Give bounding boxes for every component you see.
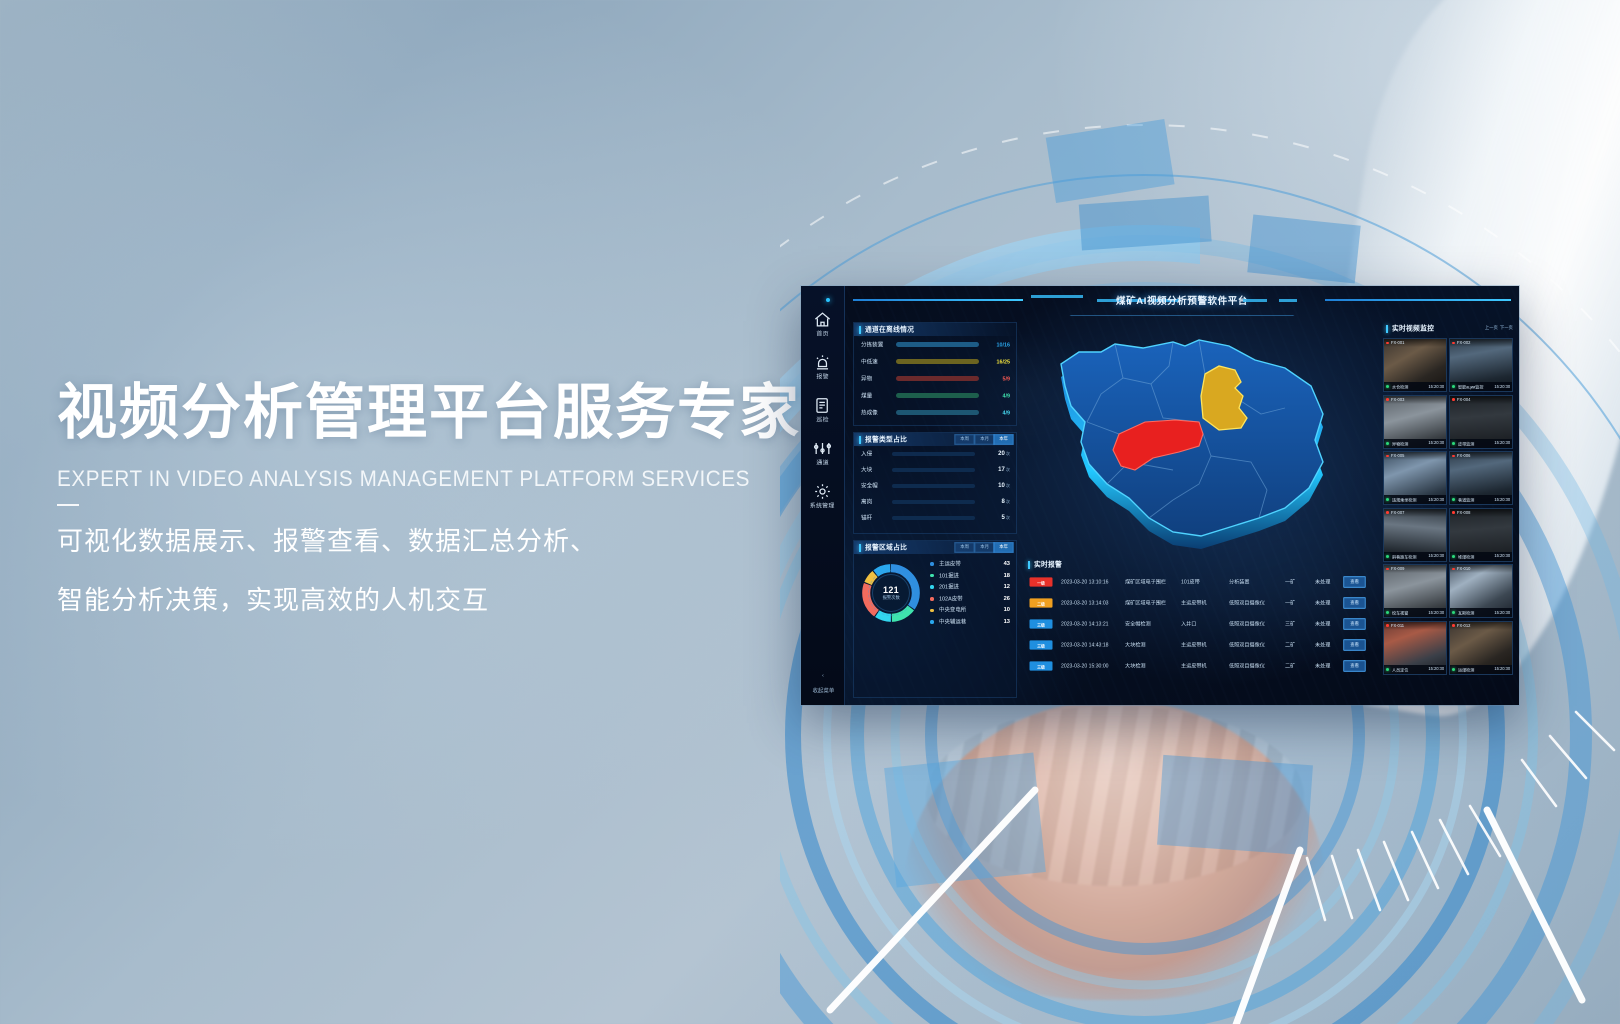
alarm-type-rows: 入侵 20 次 大块 17 次 安全帽 10 次 离岗 8 次 锚杆 5 次 [854, 446, 1016, 526]
video-channel-id: FX-009 [1391, 567, 1404, 572]
video-tile-footer: 皮带监测 15:20:30 [1450, 439, 1512, 448]
video-tile-footer: 人员定位 15:20:30 [1384, 665, 1446, 674]
view-button[interactable]: 查看 [1343, 576, 1366, 588]
alarm-type-unit: 次 [1005, 452, 1010, 457]
online-status-icon [1386, 442, 1389, 445]
channel-row: 异物 5/9 [854, 370, 1016, 387]
channel-progress-track [896, 359, 979, 364]
tab-本月[interactable]: 本月 [974, 434, 995, 445]
online-status-icon [1452, 442, 1455, 445]
channel-progress-track [896, 376, 979, 381]
panel-title-bar: 实时视频监控 上一页 下一页 [1381, 322, 1515, 335]
legend-row: 中央辅运巷 13 [930, 616, 1010, 628]
video-tile-header: FX-008 [1450, 509, 1512, 517]
sidebar-label: 报警 [816, 373, 828, 381]
video-tile[interactable]: FX-006 巷道监测 15:20:30 [1449, 451, 1513, 505]
view-button[interactable]: 查看 [1343, 639, 1366, 651]
alarm-type-unit: 次 [1005, 468, 1010, 473]
video-timestamp: 15:20:30 [1428, 667, 1444, 672]
title-accent [1386, 325, 1388, 333]
page-title: 视频分析管理平台服务专家 [57, 379, 837, 446]
video-channel-name: 堆煤检测 [1458, 553, 1474, 559]
status-badge: 三级 [1030, 640, 1053, 649]
time-range-tabs[interactable]: 本周本月本年 [956, 435, 1016, 444]
video-channel-id: FX-011 [1391, 623, 1404, 628]
tab-本年[interactable]: 本年 [993, 542, 1014, 553]
video-tile[interactable]: FX-007 斜巷跑车检测 15:20:30 [1383, 508, 1447, 562]
legend-row: 101掘进 18 [930, 570, 1010, 582]
video-tile-header: FX-005 [1384, 452, 1446, 460]
sidebar-item-channel[interactable]: 通道 [803, 439, 843, 466]
recording-indicator-icon [1386, 568, 1389, 571]
video-tile-footer: 异物检测 15:20:30 [1384, 439, 1446, 448]
channel-value: 10/16 [978, 341, 1011, 347]
video-channel-id: FX-007 [1391, 510, 1404, 515]
donut-total-value: 121 [883, 585, 899, 595]
legend-value: 13 [992, 619, 1010, 626]
video-timestamp: 15:20:30 [1428, 384, 1444, 389]
next-page-button[interactable]: 下一页 [1500, 326, 1513, 332]
realtime-alarm-panel: 实时报警 一级 2023-03-20 13:10:16 煤矿区域电子围栏 101… [1023, 558, 1375, 698]
donut-legend: 主运皮带 43 101掘进 18 201掘进 12 102A皮带 26 中央变电… [930, 558, 1016, 628]
video-channel-name: 水仓检测 [1392, 384, 1408, 390]
tab-本周[interactable]: 本周 [955, 542, 976, 553]
video-channel-id: FX-006 [1457, 454, 1470, 459]
video-channel-name: 智能ации监控 [1458, 384, 1483, 390]
video-channel-id: FX-004 [1457, 397, 1470, 402]
video-channel-name: 巷道监测 [1458, 497, 1474, 503]
view-button[interactable]: 查看 [1343, 597, 1366, 609]
video-channel-name: 运煤检测 [1458, 666, 1474, 672]
alarm-type-value: 17 次 [974, 466, 1010, 473]
channel-value: 5/9 [978, 375, 1011, 381]
video-tile-footer: 运煤检测 15:20:30 [1450, 665, 1512, 674]
title-accent [859, 326, 861, 334]
online-status-icon [1386, 555, 1389, 558]
donut-center: 121 报警次数 [872, 574, 910, 612]
video-channel-id: FX-003 [1391, 397, 1404, 402]
video-timestamp: 15:20:30 [1494, 384, 1510, 389]
sidebar-item-home[interactable]: 首页 [803, 310, 843, 337]
alarm-type-track [892, 468, 975, 472]
alarm-type-panel: 报警类型占比 本周本月本年 入侵 20 次 大块 17 次 安全帽 10 次 离… [853, 432, 1017, 534]
video-channel-id: FX-008 [1457, 510, 1470, 515]
alarm-type-row: 锚杆 5 次 [854, 510, 1016, 526]
alarm-type-unit: 次 [1005, 500, 1010, 505]
video-channel-id: FX-005 [1391, 454, 1404, 459]
alarm-type-name: 大块 [861, 466, 895, 474]
video-channel-name: 人员定位 [1392, 666, 1408, 672]
channel-progress-track [896, 393, 979, 398]
map-svg [1023, 322, 1343, 558]
time-range-tabs[interactable]: 本周本月本年 [956, 543, 1016, 552]
status-badge: 三级 [1030, 619, 1053, 628]
video-tile[interactable]: FX-001 水仓检测 15:20:30 [1383, 338, 1447, 392]
video-channel-id: FX-010 [1457, 567, 1470, 572]
video-tile-footer: 巷道监测 15:20:30 [1450, 495, 1512, 504]
alarm-type-unit: 次 [1005, 484, 1010, 489]
video-timestamp: 15:20:30 [1494, 667, 1510, 672]
video-tile-header: FX-003 [1384, 396, 1446, 404]
home-icon [813, 310, 832, 329]
legend-color-dot [930, 597, 934, 601]
video-channel-name: 瓦斯检测 [1458, 610, 1474, 616]
video-monitor-panel: 实时视频监控 上一页 下一页 FX-001 水仓检测 15:20:30 FX-0… [1381, 322, 1515, 698]
channel-icon [813, 439, 832, 458]
alarm-type-name: 锚杆 [861, 514, 895, 522]
video-tile-header: FX-002 [1450, 339, 1512, 347]
alarm-area-donut: 121 报警次数 [860, 562, 922, 624]
donut-total-label: 报警次数 [882, 596, 899, 602]
alarm-type-track [892, 452, 975, 456]
online-status-icon [1386, 668, 1389, 671]
panel-title: 报警类型占比 [865, 435, 907, 444]
alarm-type-row: 离岗 8 次 [854, 494, 1016, 510]
settings-icon [813, 482, 832, 501]
recording-indicator-icon [1386, 511, 1389, 514]
channel-name: 热成像 [861, 409, 900, 417]
video-timestamp: 15:20:30 [1494, 610, 1510, 615]
sidebar-label: 系统管理 [810, 502, 835, 510]
header-seg-e [1243, 299, 1267, 302]
online-status-icon [1386, 498, 1389, 501]
recording-indicator-icon [1452, 624, 1455, 627]
video-tile-footer: 堆煤检测 15:20:30 [1450, 552, 1512, 561]
alarm-type-name: 入侵 [861, 450, 895, 458]
online-status-icon [1452, 611, 1455, 614]
alarm-type-name: 离岗 [861, 498, 895, 506]
sidebar-item-alarm[interactable]: 报警 [803, 353, 843, 380]
video-tile[interactable]: FX-009 绞车视窗 15:20:30 [1383, 564, 1447, 618]
view-button[interactable]: 查看 [1343, 618, 1366, 630]
alarm-type-value: 10 次 [974, 482, 1010, 489]
channel-progress-track [896, 342, 979, 347]
channel-row: 分拣装置 10/16 [854, 336, 1016, 353]
video-tile-header: FX-001 [1384, 339, 1446, 347]
video-tile-footer: 智能ации监控 15:20:30 [1450, 382, 1512, 391]
title-accent [859, 544, 861, 552]
video-tile-header: FX-009 [1384, 565, 1446, 573]
video-tile-header: FX-011 [1384, 622, 1446, 630]
video-tile-footer: 水仓检测 15:20:30 [1384, 382, 1446, 391]
legend-value: 10 [992, 607, 1010, 614]
panel-title-bar: 报警类型占比 本周本月本年 [854, 433, 1016, 446]
status-badge: 三级 [1030, 661, 1053, 670]
recording-indicator-icon [1452, 455, 1455, 458]
recording-indicator-icon [1386, 455, 1389, 458]
channel-name: 煤量 [861, 392, 900, 400]
status-badge: 二级 [1030, 598, 1053, 607]
hero-description-line-1: 可视化数据展示、报警查看、数据汇总分析、 [57, 519, 837, 565]
hero-divider [57, 504, 79, 506]
alarm-type-name: 安全帽 [861, 482, 895, 490]
view-button[interactable]: 查看 [1343, 660, 1366, 672]
legend-value: 26 [992, 595, 1010, 602]
video-tile-header: FX-006 [1450, 452, 1512, 460]
channel-name: 分拣装置 [861, 341, 900, 349]
legend-row: 201掘进 12 [930, 581, 1010, 593]
video-timestamp: 15:20:30 [1494, 554, 1510, 559]
channel-name: 中低速 [861, 358, 900, 366]
video-channel-id: FX-002 [1457, 341, 1470, 346]
video-timestamp: 15:20:30 [1428, 610, 1444, 615]
recording-indicator-icon [1386, 398, 1389, 401]
alarm-area-panel: 报警区域占比 本周本月本年 121 报警次数 主运皮带 43 101掘进 18 … [853, 540, 1017, 698]
channel-value: 16/25 [978, 358, 1011, 364]
alarm-type-track [892, 516, 975, 520]
video-pagination[interactable]: 上一页 下一页 [1486, 326, 1515, 331]
table-row[interactable]: 三级 2023-03-20 14:13:21 安全帽检测 入井口 低照双目摄像仪… [1023, 613, 1375, 634]
status-led [826, 298, 830, 302]
legend-value: 18 [992, 572, 1010, 579]
panel-title: 报警区域占比 [865, 543, 907, 552]
online-status-icon [1452, 668, 1455, 671]
recording-indicator-icon [1386, 624, 1389, 627]
alarm-type-unit: 次 [1005, 516, 1010, 521]
legend-color-dot [930, 620, 934, 624]
video-channel-name: 皮带监测 [1458, 440, 1474, 446]
video-tile-footer: 违规乘坐检测 15:20:30 [1384, 495, 1446, 504]
donut-chart-area: 121 报警次数 主运皮带 43 101掘进 18 201掘进 12 102A皮… [854, 554, 1016, 632]
title-accent [1028, 561, 1030, 569]
collapse-icon: ‹ [801, 673, 845, 679]
table-row[interactable]: 二级 2023-03-20 13:14:03 煤矿区域电子围栏 主运皮带机 低照… [1023, 592, 1375, 613]
video-timestamp: 15:20:30 [1494, 441, 1510, 446]
video-channel-id: FX-001 [1391, 341, 1404, 346]
sidebar-label: 通道 [816, 459, 828, 467]
legend-value: 43 [992, 561, 1010, 568]
sidebar-item-settings[interactable]: 系统管理 [803, 482, 843, 509]
panel-title-bar: 通道在离线情况 [854, 323, 1016, 336]
video-channel-id: FX-012 [1457, 623, 1470, 628]
header-line-right [1325, 299, 1511, 301]
hero-description-line-2: 智能分析决策，实现高效的人机交互 [57, 578, 837, 624]
video-channel-name: 绞车视窗 [1392, 610, 1408, 616]
province-map[interactable] [1023, 322, 1343, 558]
panel-title-bar: 报警区域占比 本周本月本年 [854, 541, 1016, 554]
alarm-type-row: 入侵 20 次 [854, 446, 1016, 462]
inspection-icon [813, 396, 832, 415]
video-tile[interactable]: FX-011 人员定位 15:20:30 [1383, 621, 1447, 675]
video-timestamp: 15:20:30 [1428, 497, 1444, 502]
table-row[interactable]: 一级 2023-03-20 13:10:16 煤矿区域电子围栏 101皮带 分析… [1023, 571, 1375, 592]
channel-row: 热成像 4/9 [854, 404, 1016, 421]
video-tile-header: FX-010 [1450, 565, 1512, 573]
alarm-type-track [892, 484, 975, 488]
video-timestamp: 15:20:30 [1494, 497, 1510, 502]
alarm-type-value: 20 次 [974, 450, 1010, 457]
tab-本月[interactable]: 本月 [974, 542, 995, 553]
video-tile-footer: 绞车视窗 15:20:30 [1384, 608, 1446, 617]
recording-indicator-icon [1452, 568, 1455, 571]
online-status-icon [1386, 611, 1389, 614]
tab-本年[interactable]: 本年 [993, 434, 1014, 445]
sidebar-item-inspection[interactable]: 巡检 [803, 396, 843, 423]
status-badge: 一级 [1030, 577, 1053, 586]
channel-rows: 分拣装置 10/16 中低速 16/25 异物 5/9 煤量 4/9 热成像 4… [854, 336, 1016, 421]
legend-color-dot [930, 609, 934, 613]
legend-row: 主运皮带 43 [930, 558, 1010, 570]
video-tile[interactable]: FX-003 异物检测 15:20:30 [1383, 395, 1447, 449]
video-tile[interactable]: FX-008 堆煤检测 15:20:30 [1449, 508, 1513, 562]
legend-color-dot [930, 562, 934, 566]
dashboard-header: 煤矿AI视频分析预警软件平台 [845, 286, 1519, 316]
panel-title: 实时报警 [1034, 560, 1062, 569]
table-row[interactable]: 三级 2023-03-20 15:30:00 大块检测 主运皮带机 低照双目摄像… [1023, 655, 1375, 676]
recording-indicator-icon [1452, 342, 1455, 345]
video-tile-header: FX-012 [1450, 622, 1512, 630]
video-tile-footer: 瓦斯检测 15:20:30 [1450, 608, 1512, 617]
title-accent [859, 436, 861, 444]
tab-本周[interactable]: 本周 [955, 434, 976, 445]
alarm-type-value: 5 次 [974, 514, 1010, 521]
channel-value: 4/9 [978, 409, 1011, 415]
video-tile[interactable]: FX-010 瓦斯检测 15:20:30 [1449, 564, 1513, 618]
legend-value: 12 [992, 584, 1010, 591]
alarm-type-row: 大块 17 次 [854, 462, 1016, 478]
alarm-table-body: 一级 2023-03-20 13:10:16 煤矿区域电子围栏 101皮带 分析… [1023, 571, 1375, 676]
hand-photo [905, 700, 1325, 1000]
video-tile-header: FX-004 [1450, 396, 1512, 404]
video-channel-name: 斜巷跑车检测 [1392, 553, 1416, 559]
channel-value: 4/9 [978, 392, 1011, 398]
panel-title: 实时视频监控 [1392, 324, 1434, 333]
header-seg-a [1031, 295, 1083, 298]
sidebar-collapse-label: 收起菜单 [812, 687, 834, 695]
online-status-icon [1452, 498, 1455, 501]
online-status-icon [1386, 385, 1389, 388]
video-timestamp: 15:20:30 [1428, 441, 1444, 446]
alarm-icon [813, 353, 832, 372]
dashboard-sidebar: 首页 报警 巡检 通道 系统管理 ‹ [801, 286, 845, 705]
video-grid: FX-001 水仓检测 15:20:30 FX-002 智能ации监控 15:… [1381, 335, 1515, 675]
panel-title-bar: 实时报警 [1023, 558, 1375, 571]
channel-status-panel: 通道在离线情况 分拣装置 10/16 中低速 16/25 异物 5/9 煤量 4… [853, 322, 1017, 426]
hero-headline: 视频分析管理平台服务专家 EXPERT IN VIDEO ANALYSIS MA… [57, 379, 837, 623]
video-channel-name: 异物检测 [1392, 440, 1408, 446]
video-tile-header: FX-007 [1384, 509, 1446, 517]
legend-row: 中央变电所 10 [930, 605, 1010, 617]
panel-title: 通道在离线情况 [865, 325, 914, 334]
header-trapezoid [1057, 307, 1307, 316]
table-row[interactable]: 三级 2023-03-20 14:43:18 大块检测 主运皮带机 低照双目摄像… [1023, 634, 1375, 655]
video-tile[interactable]: FX-005 违规乘坐检测 15:20:30 [1383, 451, 1447, 505]
online-status-icon [1452, 385, 1455, 388]
sidebar-label: 首页 [816, 330, 828, 338]
legend-color-dot [930, 585, 934, 589]
video-tile[interactable]: FX-012 运煤检测 15:20:30 [1449, 621, 1513, 675]
recording-indicator-icon [1452, 511, 1455, 514]
channel-row: 煤量 4/9 [854, 387, 1016, 404]
dashboard-monitor: 首页 报警 巡检 通道 系统管理 ‹ [801, 286, 1519, 705]
dashboard-title: 煤矿AI视频分析预警软件平台 [1116, 293, 1248, 307]
channel-row: 中低速 16/25 [854, 353, 1016, 370]
channel-name: 异物 [861, 375, 900, 383]
video-tile-footer: 斜巷跑车检测 15:20:30 [1384, 552, 1446, 561]
alarm-type-track [892, 500, 975, 504]
video-tile[interactable]: FX-002 智能ации监控 15:20:30 [1449, 338, 1513, 392]
sidebar-collapse-button[interactable]: ‹ 收起菜单 [801, 673, 845, 697]
recording-indicator-icon [1452, 398, 1455, 401]
header-line-left [853, 299, 1023, 301]
header-seg-f [1279, 299, 1297, 302]
alarm-type-row: 安全帽 10 次 [854, 478, 1016, 494]
video-tile[interactable]: FX-004 皮带监测 15:20:30 [1449, 395, 1513, 449]
hero-subtitle: EXPERT IN VIDEO ANALYSIS MANAGEMENT PLAT… [57, 466, 790, 492]
channel-progress-track [896, 410, 979, 415]
legend-row: 102A皮带 26 [930, 593, 1010, 605]
online-status-icon [1452, 555, 1455, 558]
sidebar-label: 巡检 [816, 416, 828, 424]
prev-page-button[interactable]: 上一页 [1485, 326, 1498, 332]
alarm-type-value: 8 次 [974, 498, 1010, 505]
video-channel-name: 违规乘坐检测 [1392, 497, 1416, 503]
video-timestamp: 15:20:30 [1428, 554, 1444, 559]
recording-indicator-icon [1386, 342, 1389, 345]
legend-color-dot [930, 574, 934, 578]
